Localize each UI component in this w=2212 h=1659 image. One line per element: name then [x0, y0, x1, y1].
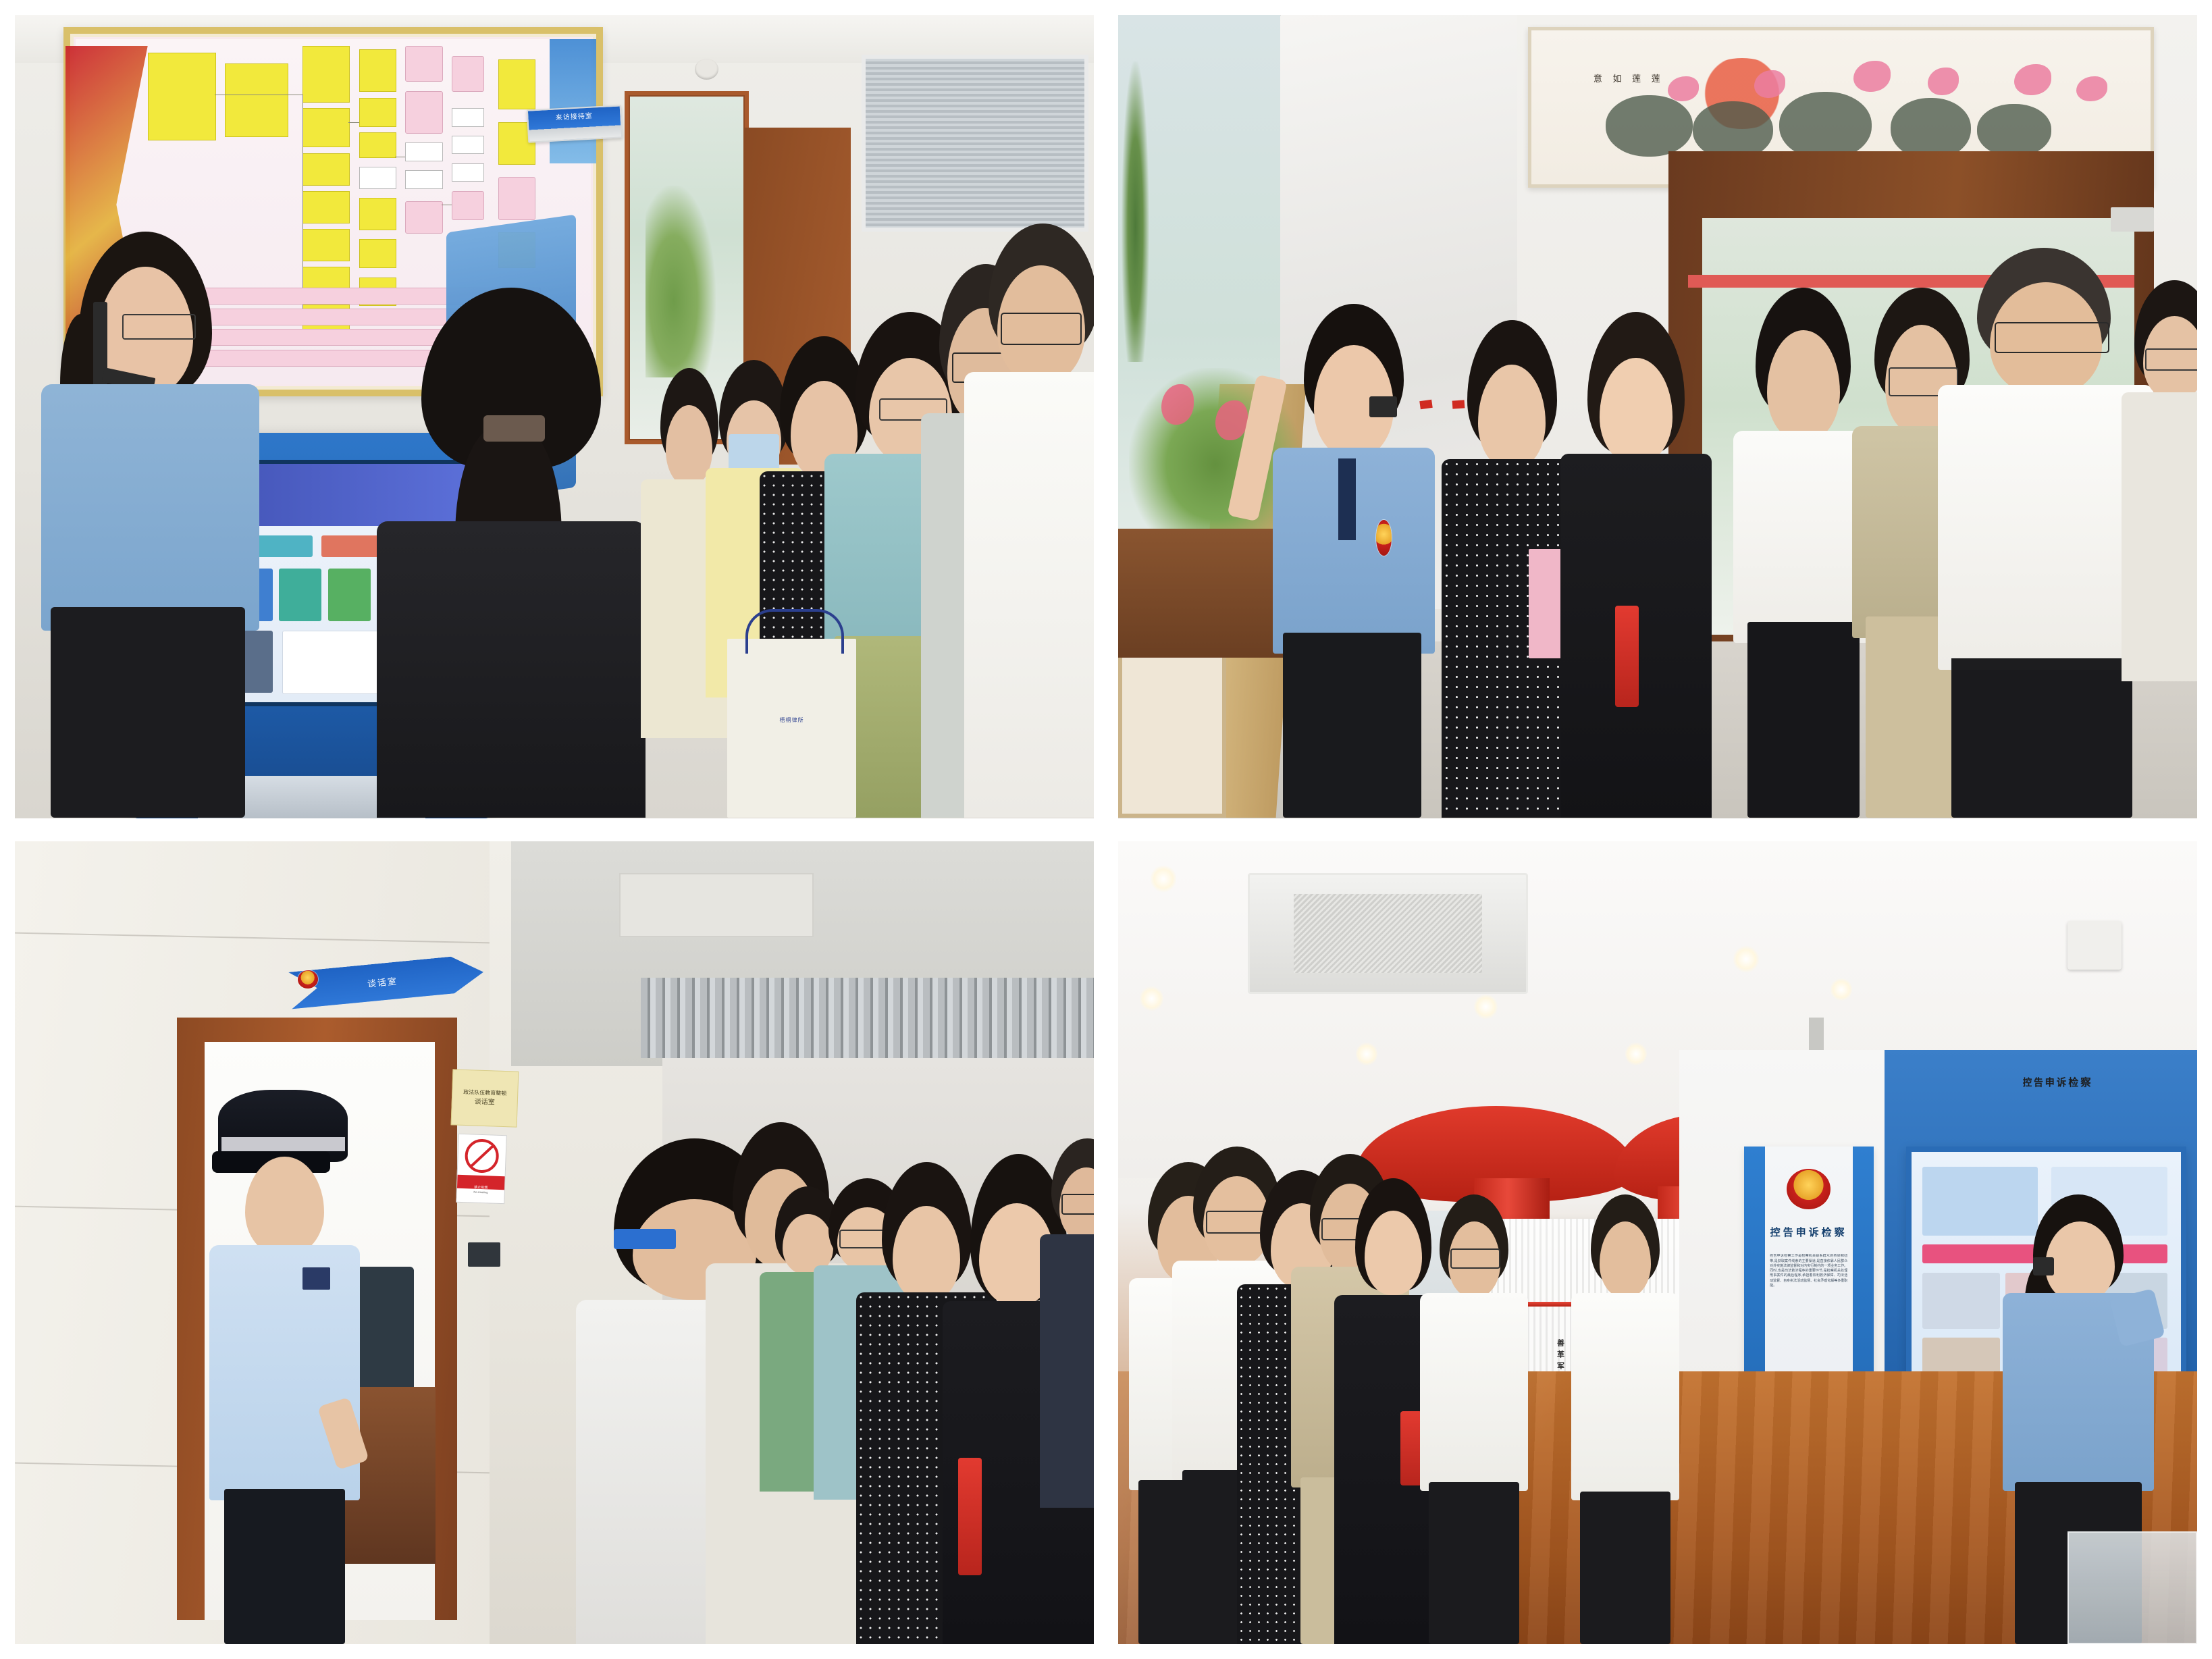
ceiling-light-panel — [619, 873, 814, 937]
wall-header-complaint-appeal: 控告申诉检察 — [1972, 1059, 2161, 1104]
door-access-panel[interactable] — [468, 1242, 500, 1267]
downlight — [1733, 945, 1759, 972]
palm-foliage — [1122, 61, 1149, 362]
sign-visitor-reception: 来访接待室 — [527, 105, 623, 142]
person-visitor-woman-glasses-far-right — [2122, 280, 2197, 682]
eyeglasses — [1450, 1248, 1500, 1269]
water-bottle-red — [1615, 606, 1639, 707]
person-police-officer — [209, 1090, 361, 1644]
person-prosecutor-female-presenter — [1269, 304, 1442, 818]
smoke-detector — [695, 59, 718, 80]
necktie — [1338, 458, 1356, 541]
person-visitor-black-jumpsuit — [1560, 312, 1712, 818]
sign-visitor-reception-label: 来访接待室 — [555, 109, 593, 122]
no-smoking-cn: 禁止吸烟 — [474, 1184, 488, 1190]
education-rectification-plate: 政法队伍教育整顿 谈话室 — [451, 1069, 519, 1127]
eyeglasses — [1061, 1194, 1094, 1215]
tote-bag: 梧桐律所 — [727, 609, 857, 818]
blue-corner-graphic — [550, 39, 596, 163]
downlight — [1831, 978, 1852, 1002]
pillar-body-text: 控告申诉检察工作是检察机关联系群众的桥梁和纽带,是获取案件线索的主要渠道,是直接… — [1770, 1254, 1847, 1371]
card-reader — [2111, 207, 2154, 232]
person-visitor-man-glasses-far-right — [1040, 1138, 1094, 1508]
downlight — [1625, 1042, 1647, 1066]
eyeglasses — [2145, 348, 2197, 371]
window-blinds — [866, 59, 1084, 228]
plate-line-1: 政法队伍教育整顿 — [463, 1088, 506, 1097]
no-smoking-sign: 禁止吸烟 No smoking — [456, 1133, 507, 1203]
interview-room-arrow-sign-label: 谈话室 — [367, 974, 398, 990]
person-visitor-man-white-polo-center — [1420, 1194, 1528, 1644]
fire-sprinkler — [1809, 1018, 1824, 1050]
downlight — [1140, 986, 1163, 1011]
glass-podium — [2068, 1531, 2197, 1644]
photo-top-left-reception-kiosk: 来访接待室 集体访接待室 — [15, 15, 1094, 818]
hair-tie — [483, 415, 545, 442]
eyeglasses — [1001, 313, 1082, 345]
photo-collage: 来访接待室 集体访接待室 — [0, 0, 2212, 1659]
plate-line-2: 谈话室 — [475, 1098, 495, 1107]
track-spotlight — [2068, 921, 2122, 969]
person-visitor-white-shirt-man — [964, 223, 1094, 818]
person-visitor-ponytail-back — [371, 288, 651, 818]
ac-grill — [1294, 894, 1481, 973]
downlight — [1474, 994, 1498, 1020]
person-visitor-man-white-shirt-center — [1571, 1194, 1679, 1644]
cap-band — [221, 1137, 345, 1151]
headset-mic — [1369, 396, 1397, 417]
no-smoking-en: No smoking — [473, 1190, 488, 1194]
display-board — [1118, 641, 1226, 818]
photo-bottom-right-exhibition-hall: 谋发展 重自强 善革军 讲廉洁 控告申诉检察 控告申诉检察工作是检察机关联系群众… — [1118, 841, 2197, 1645]
downlight — [1151, 865, 1176, 892]
no-smoking-icon — [465, 1138, 500, 1173]
tote-bag-text: 梧桐律所 — [740, 701, 843, 739]
eyeglasses — [1995, 322, 2109, 353]
photo-bottom-left-interview-room: 谈话室 政法队伍教育整顿 谈话室 禁止吸烟 No smoking — [15, 841, 1094, 1645]
eyeglasses-blue-frame — [614, 1229, 675, 1249]
headset-mic — [2033, 1257, 2054, 1275]
procuratorate-emblem-large — [1787, 1169, 1831, 1209]
pillar-title: 控告申诉检察 — [1767, 1218, 1850, 1245]
ceiling-ac-unit — [1248, 873, 1528, 993]
metal-ceiling-grill — [641, 978, 1094, 1058]
water-bottle-red — [1400, 1411, 1422, 1485]
eyeglasses — [122, 314, 196, 340]
potted-plant — [646, 186, 716, 377]
water-bottle-red — [958, 1458, 982, 1575]
person-prosecutor-female-guide — [36, 232, 274, 818]
corridor-window — [862, 55, 1088, 232]
photo-top-right-lobby-briefing: 意 如 莲 莲 — [1118, 15, 2197, 818]
downlight — [1356, 1042, 1377, 1066]
shoulder-insignia — [302, 1267, 330, 1290]
